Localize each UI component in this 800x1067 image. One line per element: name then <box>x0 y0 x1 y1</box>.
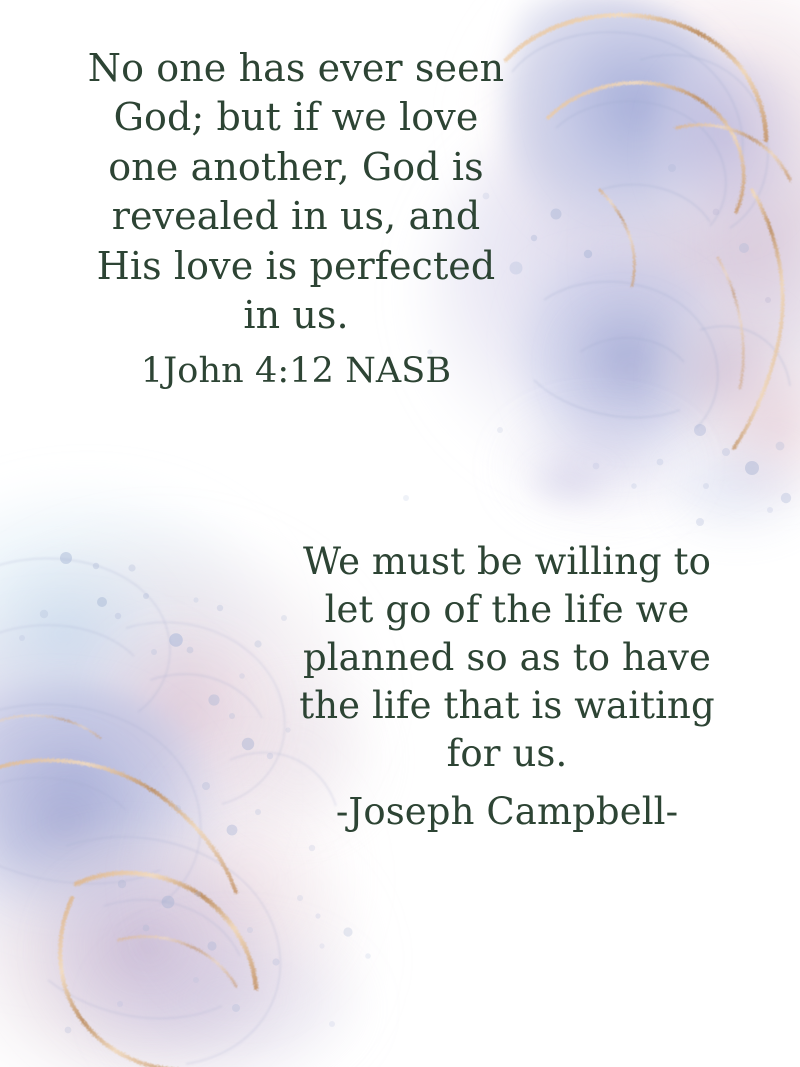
quote-block-campbell: We must be willing to let go of the life… <box>268 538 746 837</box>
quote-verse-citation: 1John 4:12 NASB <box>58 349 534 395</box>
quote-verse-line-1: No one has ever seen <box>58 44 534 93</box>
quote-verse-line-4: revealed in us, and <box>58 192 534 241</box>
quote-campbell-attribution: -Joseph Campbell- <box>268 788 746 836</box>
quote-campbell-line-1: We must be willing to <box>268 538 746 586</box>
ink-drift-middle <box>528 460 773 526</box>
quote-verse-line-2: God; but if we love <box>58 93 534 142</box>
quote-campbell-line-2: let go of the life we <box>268 586 746 634</box>
quote-campbell-line-4: the life that is waiting <box>268 682 746 730</box>
quote-verse-line-3: one another, God is <box>58 143 534 192</box>
quote-verse-line-6: in us. <box>58 291 534 340</box>
quote-verse-line-5: His love is perfected <box>58 242 534 291</box>
ink-bubbles-top-right <box>510 135 792 503</box>
quote-poster: No one has ever seen God; but if we love… <box>0 0 800 1067</box>
quote-campbell-line-5: for us. <box>268 730 746 778</box>
quote-block-verse: No one has ever seen God; but if we love… <box>58 44 534 395</box>
quote-campbell-line-3: planned so as to have <box>268 634 746 682</box>
